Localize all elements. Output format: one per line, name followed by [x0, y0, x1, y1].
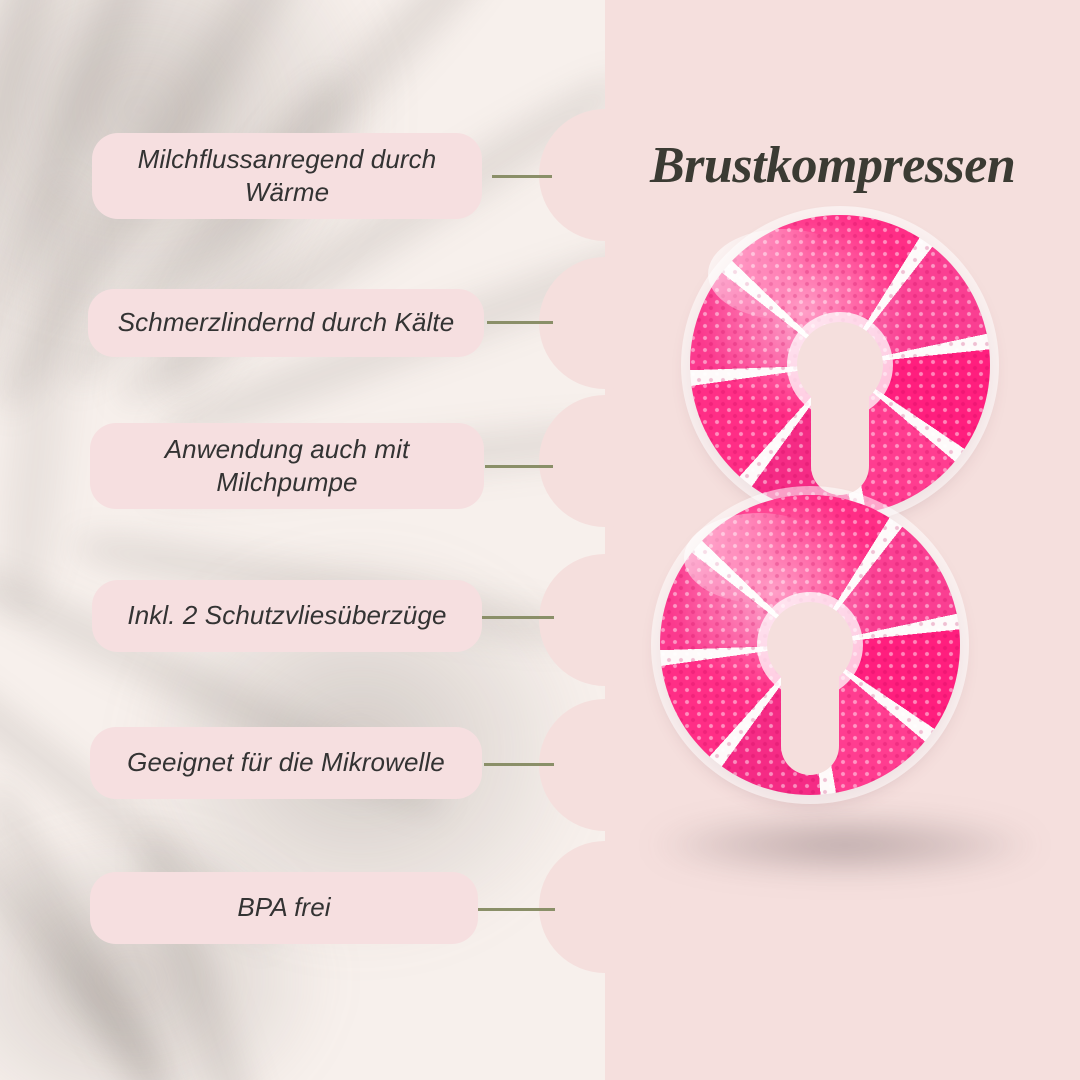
feature-label: Inkl. 2 Schutzvliesüberzüge — [127, 599, 446, 632]
page-title: Brustkompressen — [650, 136, 1050, 195]
connector-line-5 — [484, 763, 554, 766]
connector-line-1 — [492, 175, 552, 178]
feature-label: BPA frei — [237, 891, 330, 924]
compress-pad-lower — [660, 495, 960, 795]
product-drop-shadow — [650, 815, 1040, 875]
connector-line-6 — [475, 908, 555, 911]
feature-chip-covers[interactable]: Inkl. 2 Schutzvliesüberzüge — [92, 580, 482, 652]
connector-line-3 — [485, 465, 553, 468]
product-image — [620, 215, 1070, 915]
feature-label: Schmerzlindernd durch Kälte — [118, 306, 455, 339]
promo-graphic: Milchflussanregend durch Wärme Schmerzli… — [0, 0, 1080, 1080]
feature-label: Geeignet für die Mikrowelle — [127, 746, 445, 779]
pad-slot — [811, 365, 869, 495]
connector-line-2 — [487, 321, 553, 324]
feature-label: Milchflussanregend durch Wärme — [118, 143, 456, 210]
connector-line-4 — [482, 616, 554, 619]
compress-pad-upper — [690, 215, 990, 515]
pad-slot — [781, 645, 839, 775]
feature-chip-microwave[interactable]: Geeignet für die Mikrowelle — [90, 727, 482, 799]
feature-chip-bpa[interactable]: BPA frei — [90, 872, 478, 944]
feature-chip-breastpump[interactable]: Anwendung auch mit Milchpumpe — [90, 423, 484, 509]
feature-chip-cold[interactable]: Schmerzlindernd durch Kälte — [88, 289, 484, 357]
feature-label: Anwendung auch mit Milchpumpe — [116, 433, 458, 500]
feature-chip-warmth[interactable]: Milchflussanregend durch Wärme — [92, 133, 482, 219]
